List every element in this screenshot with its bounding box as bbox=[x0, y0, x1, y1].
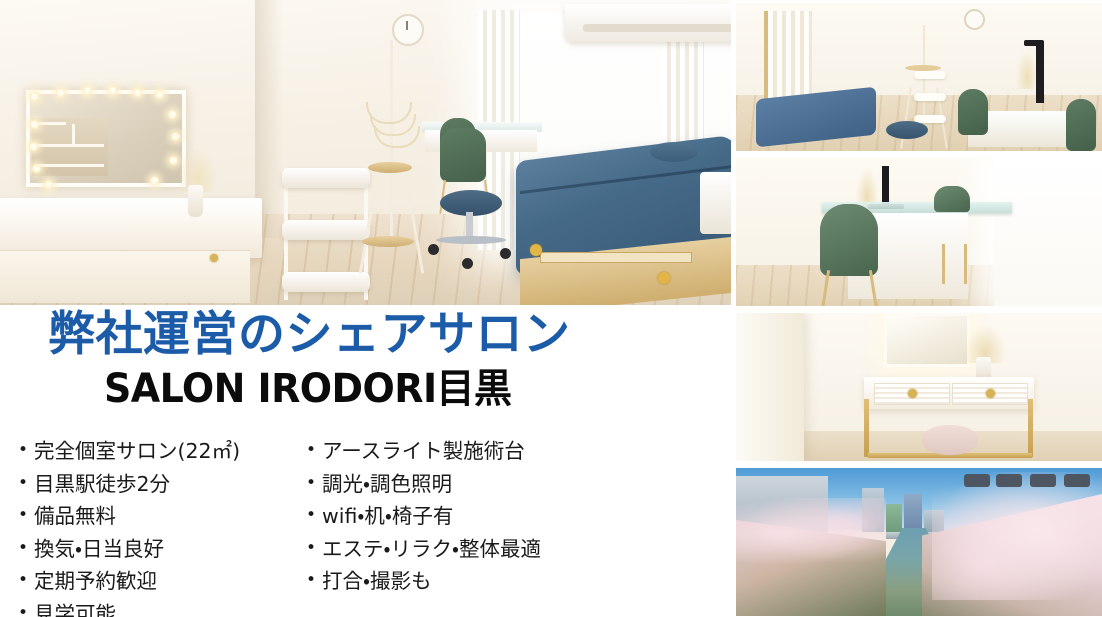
bullet-icon: • bbox=[306, 506, 322, 526]
green-chair-2 bbox=[1066, 99, 1096, 151]
mirror-reflection-shelf bbox=[32, 118, 108, 176]
air-purifier bbox=[700, 172, 731, 234]
wall-mirror bbox=[884, 313, 970, 367]
green-chair-back bbox=[934, 186, 970, 212]
bullet-icon: • bbox=[18, 571, 34, 591]
rolling-stool bbox=[886, 121, 928, 139]
list-item-label: 打合・撮影も bbox=[322, 571, 666, 592]
vanity-desk bbox=[0, 198, 262, 258]
coat-rack bbox=[360, 40, 422, 270]
list-item-label: wifi・机・椅子有 bbox=[322, 506, 666, 527]
bullet-icon: • bbox=[306, 571, 322, 591]
feature-list-left: • 完全個室サロン(22㎡) • 目黒駅徒歩2分 • 備品無料 • 換気・日当良… bbox=[18, 441, 306, 617]
list-item-label: 調光・調色照明 bbox=[322, 474, 666, 495]
list-item-label: 完全個室サロン(22㎡) bbox=[34, 441, 306, 462]
desk-lamp bbox=[1036, 43, 1044, 103]
bullet-icon: • bbox=[18, 604, 34, 617]
list-item: • 備品無料 bbox=[18, 506, 306, 527]
page-headline-japanese: 弊社運営のシェアサロン bbox=[48, 311, 633, 358]
green-chair-front bbox=[820, 204, 878, 276]
feature-lists: • 完全個室サロン(22㎡) • 目黒駅徒歩2分 • 備品無料 • 換気・日当良… bbox=[0, 441, 731, 617]
bullet-icon: • bbox=[18, 506, 34, 526]
bullet-icon: • bbox=[306, 474, 322, 494]
list-item: • 打合・撮影も bbox=[306, 571, 666, 592]
wall-clock bbox=[392, 14, 424, 46]
list-item: • 見学可能 bbox=[18, 604, 306, 617]
page-title-brand: SALON IRODORI目黒 bbox=[104, 369, 511, 409]
wall-clock-icon bbox=[964, 9, 985, 30]
bullet-icon: • bbox=[18, 474, 34, 494]
promo-slide: 弊社運営のシェアサロン SALON IRODORI目黒 • 完全個室サロン(22… bbox=[0, 0, 1102, 617]
vanity-desk-mirror-photo bbox=[736, 313, 1102, 461]
salon-room-bed-and-desk-photo bbox=[736, 3, 1102, 151]
photo-thumbnail-column bbox=[736, 3, 1102, 616]
list-item: • 目黒駅徒歩2分 bbox=[18, 474, 306, 495]
list-item: • wifi・机・椅子有 bbox=[306, 506, 666, 527]
list-item-label: 換気・日当良好 bbox=[34, 539, 306, 560]
green-chair-front bbox=[440, 128, 486, 182]
glass-desk-green-chairs-photo bbox=[736, 158, 1102, 306]
pink-ottoman bbox=[922, 425, 978, 455]
bullet-icon: • bbox=[306, 539, 322, 559]
list-item-label: 備品無料 bbox=[34, 506, 306, 527]
storage-trolley bbox=[282, 168, 370, 300]
list-item-label: 定期予約歓迎 bbox=[34, 571, 306, 592]
air-conditioner bbox=[565, 4, 731, 42]
dried-flowers bbox=[1016, 51, 1038, 89]
parked-cars bbox=[964, 474, 1094, 494]
bullet-icon: • bbox=[306, 441, 322, 461]
text-panel: 弊社運営のシェアサロン SALON IRODORI目黒 • 完全個室サロン(22… bbox=[0, 305, 731, 617]
bullet-icon: • bbox=[18, 539, 34, 559]
list-item: • 換気・日当良好 bbox=[18, 539, 306, 560]
meguro-river-sakura-photo bbox=[736, 468, 1102, 616]
list-item-label: エステ・リラク・整体最適 bbox=[322, 539, 666, 560]
vase bbox=[188, 185, 203, 217]
list-item-label: 見学可能 bbox=[34, 604, 306, 617]
list-item: • 定期予約歓迎 bbox=[18, 571, 306, 592]
green-chair-1 bbox=[958, 89, 988, 135]
list-item: • 完全個室サロン(22㎡) bbox=[18, 441, 306, 462]
bullet-icon: • bbox=[18, 441, 34, 461]
salon-room-wide-photo bbox=[0, 0, 731, 305]
feature-list-right: • アースライト製施術台 • 調光・調色照明 • wifi・机・椅子有 • エス… bbox=[306, 441, 666, 617]
list-item: • アースライト製施術台 bbox=[306, 441, 666, 462]
list-item: • 調光・調色照明 bbox=[306, 474, 666, 495]
list-item: • エステ・リラク・整体最適 bbox=[306, 539, 666, 560]
list-item-label: 目黒駅徒歩2分 bbox=[34, 474, 306, 495]
list-item-label: アースライト製施術台 bbox=[322, 441, 666, 462]
cherry-blossoms-left bbox=[736, 498, 886, 568]
table-headrest bbox=[650, 142, 698, 162]
